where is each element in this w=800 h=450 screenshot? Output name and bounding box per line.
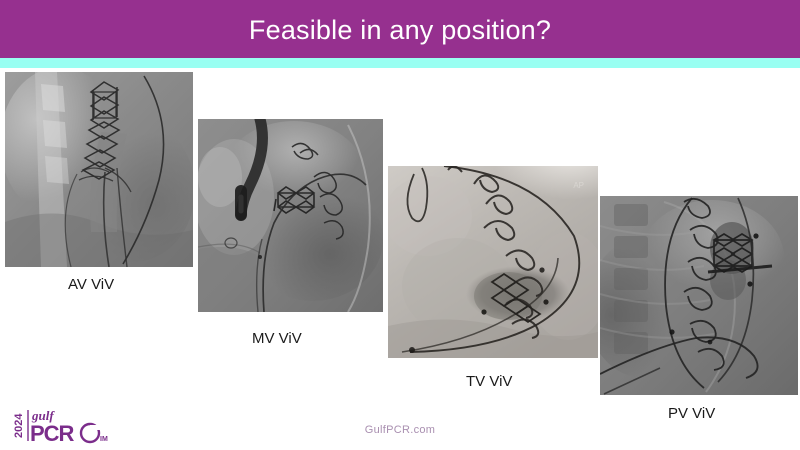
fluoroscopy-image-tv-viv: AP bbox=[388, 166, 598, 358]
figure-label-tv-viv: TV ViV bbox=[466, 374, 512, 389]
page-title: Feasible in any position? bbox=[249, 17, 551, 44]
figure-label-mv-viv: MV ViV bbox=[252, 331, 302, 346]
svg-text:AP: AP bbox=[573, 181, 584, 190]
figure-mv-viv bbox=[198, 119, 383, 312]
logo-mark-suffix: IM bbox=[100, 436, 108, 443]
gulfpcr-logo-svg: 2024 gulf PCR IM bbox=[14, 404, 114, 444]
title-banner-inner: Feasible in any position? bbox=[4, 2, 796, 58]
gulfpcr-logo: 2024 gulf PCR IM bbox=[14, 404, 114, 444]
logo-word-pcr: PCR bbox=[30, 421, 75, 444]
fluoroscopy-image-pv-viv bbox=[600, 196, 798, 395]
accent-strip bbox=[0, 58, 800, 68]
logo-c-mark-gap bbox=[90, 425, 102, 430]
fluoroscopy-image-mv-viv bbox=[198, 119, 383, 312]
figure-label-av-viv: AV ViV bbox=[68, 277, 114, 292]
fluoroscopy-image-av-viv bbox=[5, 72, 193, 267]
footer-url[interactable]: GulfPCR.com bbox=[0, 424, 800, 436]
figure-pv-viv bbox=[600, 196, 798, 395]
figure-label-pv-viv: PV ViV bbox=[668, 406, 715, 421]
title-banner: Feasible in any position? bbox=[0, 0, 800, 58]
figure-av-viv bbox=[5, 72, 193, 267]
logo-year: 2024 bbox=[14, 413, 25, 438]
figure-tv-viv: AP bbox=[388, 166, 598, 358]
